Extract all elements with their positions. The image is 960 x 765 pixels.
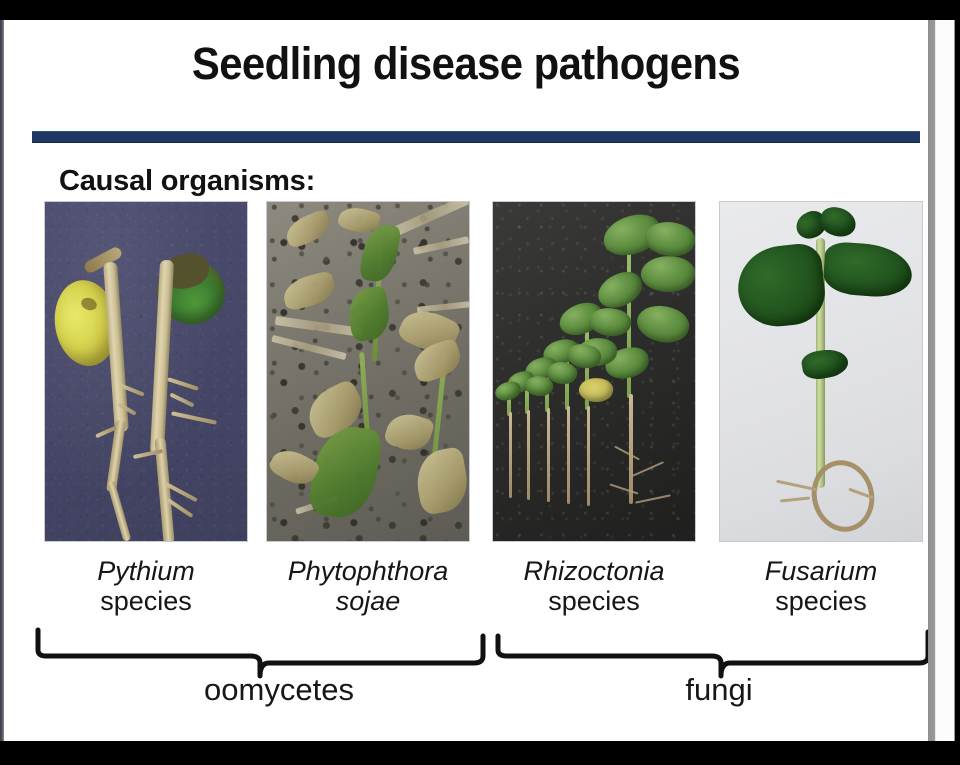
caption-fusarium: Fusarium species	[719, 556, 923, 616]
title-underline-rule	[32, 131, 920, 143]
letterbox-bottom-bar	[0, 741, 960, 765]
caption-rhizoctonia: Rhizoctonia species	[492, 556, 696, 616]
group-braces-svg	[4, 620, 928, 680]
taproot	[587, 406, 590, 506]
organism-cell-fusarium	[719, 201, 923, 542]
lower-leaf	[800, 346, 850, 382]
taproot	[527, 410, 530, 500]
unifoliate-leaf-right	[822, 241, 913, 299]
slide-canvas: Seedling disease pathogens Causal organi…	[4, 20, 928, 741]
photo-row	[44, 201, 928, 546]
pythium-seedling-photo	[44, 201, 248, 542]
group-brace-layer	[4, 620, 928, 680]
page-title: Seedling disease pathogens	[36, 38, 895, 90]
taproot	[567, 406, 570, 504]
caption-epithet: species	[492, 586, 696, 616]
organism-cell-rhizoctonia	[492, 201, 696, 542]
letterbox-right-edge	[928, 20, 960, 741]
trifoliate-leaf	[817, 204, 859, 241]
taproot	[509, 412, 512, 498]
group-label-oomycetes: oomycetes	[64, 672, 494, 708]
fusarium-seedling-photo	[719, 201, 923, 542]
caption-pythium: Pythium species	[44, 556, 248, 616]
organism-cell-phytophthora	[266, 201, 470, 542]
caption-genus: Fusarium	[719, 556, 923, 586]
letterbox-top-bar	[0, 0, 960, 20]
caption-genus: Pythium	[44, 556, 248, 586]
caption-epithet: species	[719, 586, 923, 616]
caption-epithet: sojae	[266, 586, 470, 616]
root-hair	[780, 496, 810, 502]
caption-phytophthora: Phytophthora sojae	[266, 556, 470, 616]
caption-genus: Rhizoctonia	[492, 556, 696, 586]
oomycetes-brace	[38, 630, 483, 676]
unifoliate-leaf-left	[734, 242, 828, 331]
caption-genus: Phytophthora	[266, 556, 470, 586]
taproot	[629, 394, 633, 504]
fungi-brace	[498, 632, 928, 676]
photo-texture	[45, 202, 247, 541]
phytophthora-field-photo	[266, 201, 470, 542]
subtitle-causal-organisms: Causal organisms:	[59, 165, 315, 198]
organism-cell-pythium	[44, 201, 248, 542]
video-frame: Seedling disease pathogens Causal organi…	[0, 0, 960, 765]
group-label-fungi: fungi	[504, 672, 928, 708]
taproot	[547, 408, 550, 502]
caption-epithet: species	[44, 586, 248, 616]
rhizoctonia-seedlings-photo	[492, 201, 696, 542]
